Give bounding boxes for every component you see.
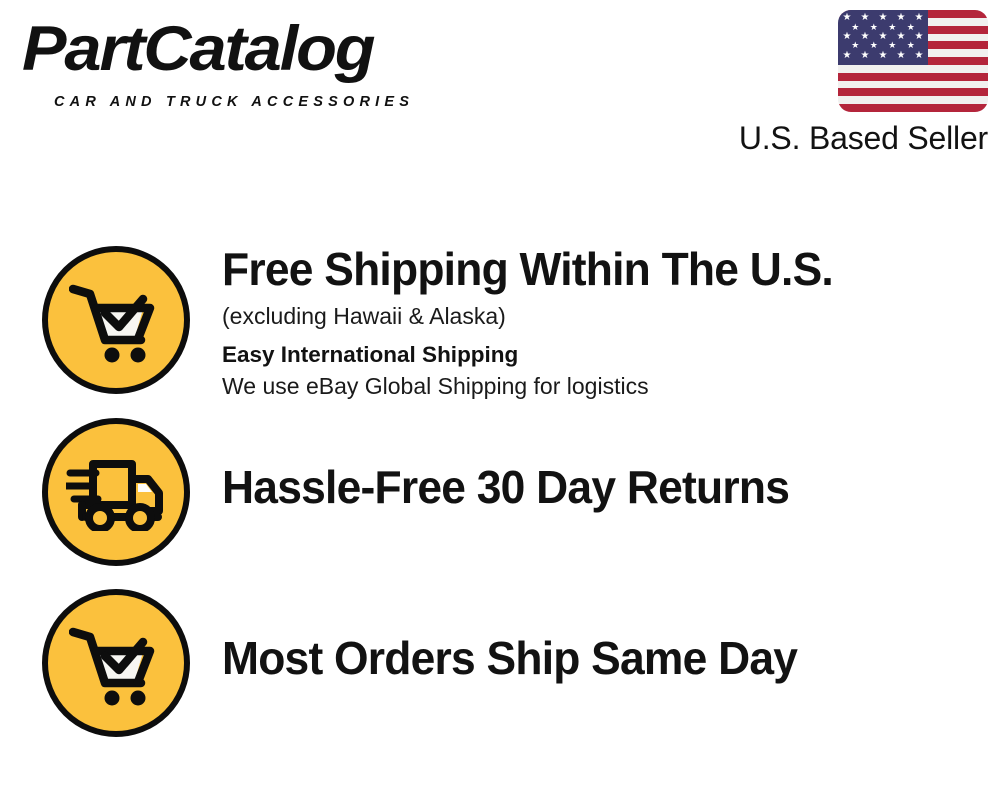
feature-subtext: (excluding Hawaii & Alaska) [222,302,855,331]
feature-text-block: Most Orders Ship Same Day [222,589,818,682]
feature-heading: Free Shipping Within The U.S. [222,246,833,293]
seller-label: U.S. Based Seller [688,121,988,156]
feature-text-block: Free Shipping Within The U.S. (excluding… [222,246,855,402]
feature-heading: Hassle-Free 30 Day Returns [222,464,789,511]
feature-subtext-plain: We use eBay Global Shipping for logistic… [222,372,855,401]
shopping-cart-check-icon [42,246,190,394]
us-based-seller-badge: ★★★★★ ★★★★ ★★★★★ ★★★★ ★★★★★ U.S. Based S… [688,10,988,156]
feature-subtext-bold: Easy International Shipping [222,341,855,370]
brand-logo: PartCatalog CAR AND TRUCK ACCESSORIES [22,22,492,117]
feature-row: Most Orders Ship Same Day [42,589,818,737]
shopping-cart-check-icon [42,589,190,737]
feature-heading: Most Orders Ship Same Day [222,635,797,682]
delivery-truck-icon [42,418,190,566]
flag-canton: ★★★★★ ★★★★ ★★★★★ ★★★★ ★★★★★ [838,10,928,65]
feature-row: Hassle-Free 30 Day Returns [42,418,810,566]
brand-tagline: CAR AND TRUCK ACCESSORIES [54,94,414,110]
promo-banner: PartCatalog CAR AND TRUCK ACCESSORIES [0,0,1000,800]
brand-wordmark: PartCatalog [22,18,373,81]
feature-text-block: Hassle-Free 30 Day Returns [222,418,810,511]
us-flag-icon: ★★★★★ ★★★★ ★★★★★ ★★★★ ★★★★★ [838,10,988,112]
feature-row: Free Shipping Within The U.S. (excluding… [42,246,855,402]
